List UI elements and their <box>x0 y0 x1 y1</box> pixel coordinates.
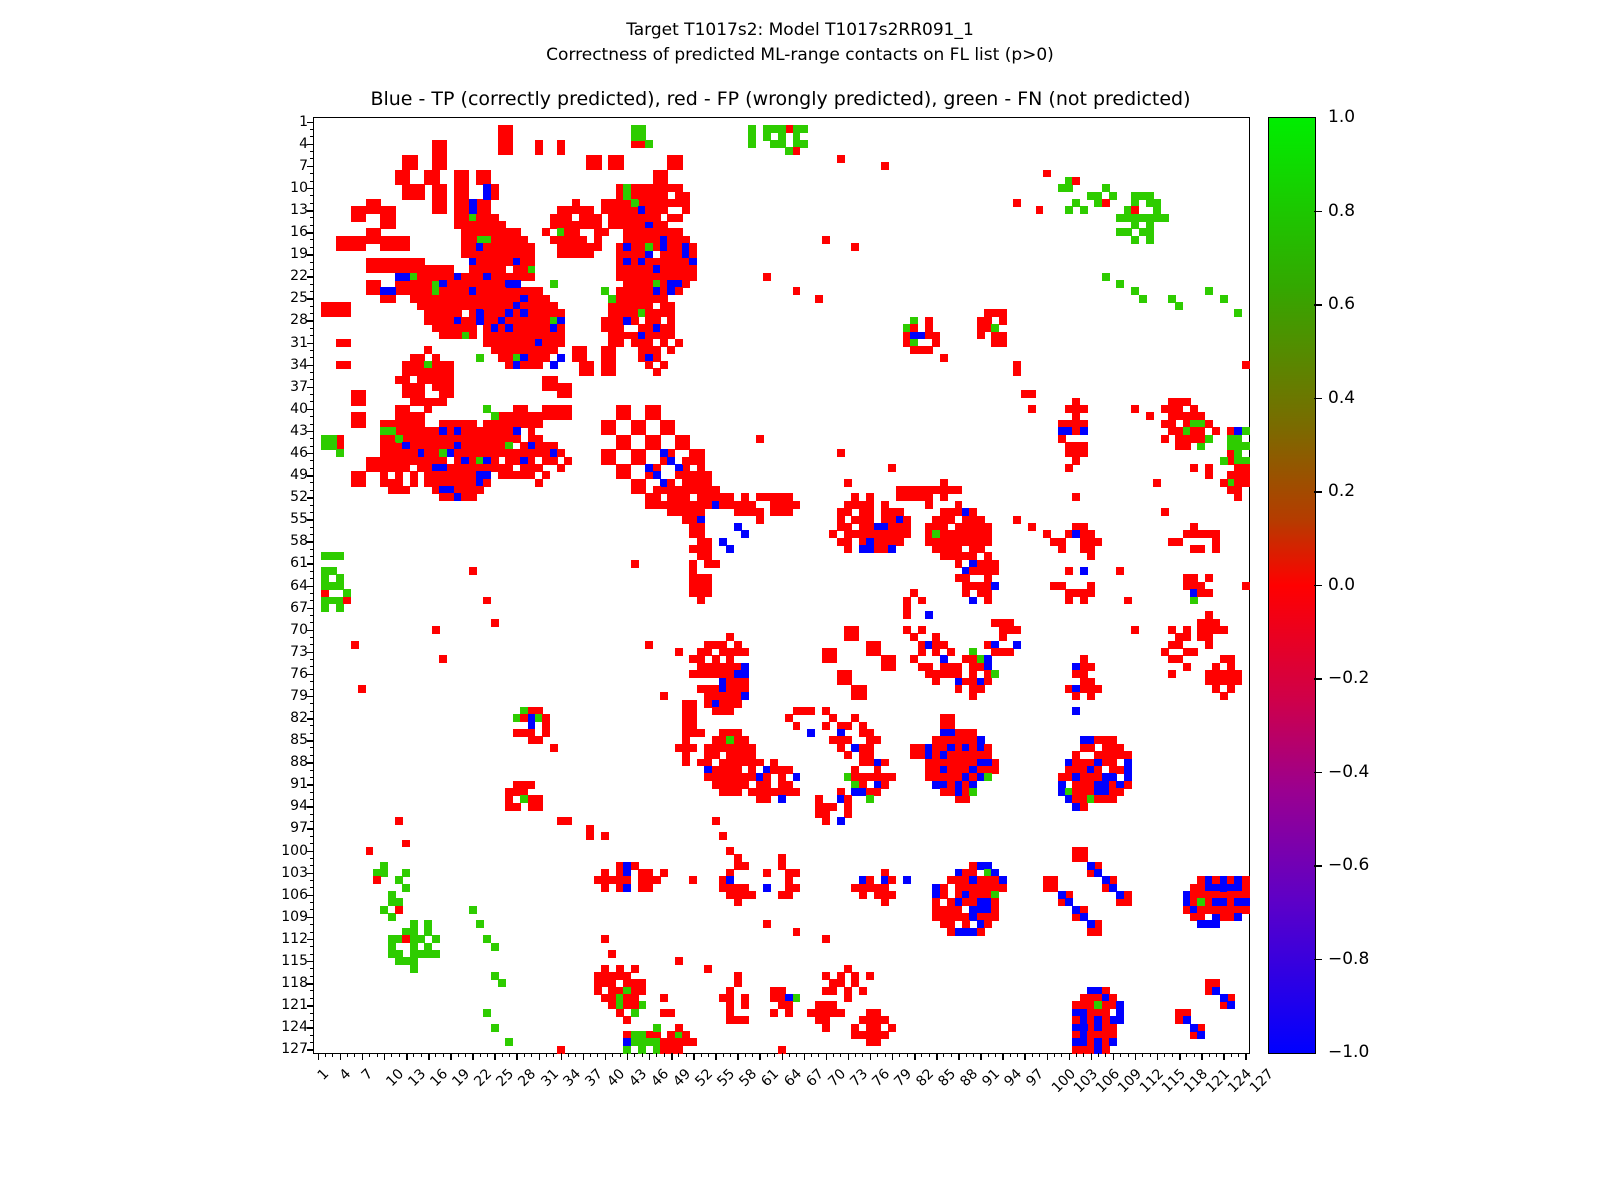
x-axis-tick-minor <box>907 1053 908 1057</box>
contact-cell-fp <box>432 626 440 634</box>
contact-cell-fp <box>896 493 904 501</box>
colorbar-tick <box>1314 865 1322 867</box>
contact-cell-fp <box>601 228 609 236</box>
contact-cell-fn <box>1102 273 1110 281</box>
contact-cell-fp <box>1065 597 1073 605</box>
y-axis-tick-major <box>307 320 314 322</box>
y-axis-tick-minor <box>310 438 314 439</box>
x-axis-tick-minor <box>1120 1053 1121 1057</box>
x-axis-tick-minor <box>1128 1053 1129 1057</box>
y-axis-tick-minor <box>310 379 314 380</box>
x-axis-tick-label: 40 <box>604 1066 628 1090</box>
contact-cell-fp <box>763 493 771 501</box>
contact-cell-fp <box>1183 663 1191 671</box>
contact-cell-fp <box>689 655 697 663</box>
x-axis-tick-label: 127 <box>1247 1066 1277 1096</box>
x-axis-tick-major <box>627 1053 629 1060</box>
y-axis-tick-minor <box>310 181 314 182</box>
y-axis-tick-minor <box>310 173 314 174</box>
contact-cell-fn <box>550 280 558 288</box>
contact-cell-fp <box>675 162 683 170</box>
x-axis-tick-major <box>1157 1053 1159 1060</box>
x-axis-tick-minor <box>377 1053 378 1057</box>
contact-cell-fp <box>1080 597 1088 605</box>
contact-cell-tp <box>726 545 734 553</box>
contact-cell-fp <box>793 788 801 796</box>
contact-cell-fp <box>712 560 720 568</box>
contact-cell-fn <box>608 295 616 303</box>
contact-cell-fp <box>888 773 896 781</box>
x-axis-tick-minor <box>723 1053 724 1057</box>
x-axis-tick-minor <box>1039 1053 1040 1057</box>
x-axis-tick-minor <box>811 1053 812 1057</box>
contact-cell-fp <box>1190 648 1198 656</box>
contact-cell-fn <box>1175 302 1183 310</box>
contact-cell-fp <box>542 729 550 737</box>
contact-map-axes[interactable]: 1144771010131316161919222225252828313134… <box>313 117 1250 1054</box>
x-axis-tick-minor <box>966 1053 967 1057</box>
y-axis-tick-major <box>307 983 314 985</box>
y-axis-tick-minor <box>310 747 314 748</box>
y-axis-tick-label: 22 <box>290 268 308 284</box>
x-axis-tick-label: 34 <box>560 1066 584 1090</box>
x-axis-tick-minor <box>509 1053 510 1057</box>
contact-cell-fp <box>601 994 609 1002</box>
contact-cell-fn <box>1205 435 1213 443</box>
contact-cell-fp <box>550 346 558 354</box>
contact-cell-fp <box>675 1024 683 1032</box>
contact-cell-fn <box>1146 228 1154 236</box>
contact-cell-fp <box>586 825 594 833</box>
contact-cell-fp <box>660 1009 668 1017</box>
contact-cell-fp <box>896 538 904 546</box>
contact-cell-fp <box>1190 545 1198 553</box>
y-axis-tick-minor <box>310 468 314 469</box>
contact-cell-fp <box>1205 471 1213 479</box>
contact-cell-fp <box>1094 928 1102 936</box>
y-axis-tick-minor <box>310 505 314 506</box>
contact-cell-fn <box>1065 206 1073 214</box>
contact-cell-tp <box>476 317 484 325</box>
contact-cell-fp <box>491 192 499 200</box>
y-axis-tick-minor <box>310 372 314 373</box>
x-axis-tick-major <box>561 1053 563 1060</box>
contact-cell-fp <box>528 273 536 281</box>
x-axis-tick-major <box>649 1053 651 1060</box>
y-axis-tick-minor <box>310 416 314 417</box>
x-axis-tick-minor <box>369 1053 370 1057</box>
x-axis-tick-label: 4 <box>336 1066 354 1084</box>
x-axis-tick-major <box>1047 1053 1049 1060</box>
y-axis-tick-minor <box>310 1013 314 1014</box>
contact-cell-fp <box>1220 626 1228 634</box>
y-axis-tick-minor <box>310 902 314 903</box>
contact-cell-fp <box>763 273 771 281</box>
contact-cell-fp <box>1131 626 1139 634</box>
x-axis-tick-label: 31 <box>538 1066 562 1090</box>
colorbar-tick-label: 0.2 <box>1328 481 1355 501</box>
x-axis-tick-label: 61 <box>759 1066 783 1090</box>
contact-cell-fp <box>918 597 926 605</box>
contact-cell-fp <box>866 744 874 752</box>
x-axis-tick-label: 19 <box>449 1066 473 1090</box>
colorbar-tick-label: −0.4 <box>1328 762 1369 782</box>
contact-cell-fn <box>748 140 756 148</box>
contact-cell-fp <box>550 744 558 752</box>
y-axis-tick-minor <box>310 711 314 712</box>
x-axis-tick-minor <box>1076 1053 1077 1057</box>
y-axis-tick-minor <box>310 571 314 572</box>
y-axis-tick-label: 127 <box>281 1041 308 1057</box>
contact-cell-tp <box>550 361 558 369</box>
y-axis-tick-label: 82 <box>290 710 308 726</box>
x-axis-tick-minor <box>546 1053 547 1057</box>
x-axis-tick-minor <box>796 1053 797 1057</box>
contact-cell-tp <box>1197 1031 1205 1039</box>
contact-cell-fp <box>1087 663 1095 671</box>
x-axis-tick-label: 55 <box>714 1066 738 1090</box>
y-axis-tick-minor <box>310 689 314 690</box>
contact-cell-fp <box>557 147 565 155</box>
contact-cell-fp <box>977 685 985 693</box>
y-axis-tick-label: 73 <box>290 644 308 660</box>
y-axis-tick-major <box>307 188 314 190</box>
contact-cell-tp <box>837 817 845 825</box>
y-axis-tick-minor <box>310 887 314 888</box>
contact-cell-fp <box>1161 435 1169 443</box>
y-axis-tick-minor <box>310 490 314 491</box>
x-axis-tick-minor <box>774 1053 775 1057</box>
y-axis-tick-label: 70 <box>290 622 308 638</box>
x-axis-tick-minor <box>951 1053 952 1057</box>
y-axis-tick-minor <box>310 225 314 226</box>
contact-cell-fp <box>528 258 536 266</box>
contact-cell-fp <box>844 751 852 759</box>
x-axis-tick-minor <box>391 1053 392 1057</box>
contact-cell-tp <box>1212 920 1220 928</box>
x-axis-tick-minor <box>1172 1053 1173 1057</box>
contact-cell-fp <box>1116 788 1124 796</box>
contact-cell-fp <box>697 597 705 605</box>
y-axis-tick-label: 61 <box>290 555 308 571</box>
x-axis-tick-major <box>759 1053 761 1060</box>
contact-cell-fp <box>719 707 727 715</box>
x-axis-tick-minor <box>487 1053 488 1057</box>
contact-cell-fp <box>1190 405 1198 413</box>
y-axis-tick-minor <box>310 1035 314 1036</box>
contact-cell-fp <box>999 884 1007 892</box>
contact-cell-tp <box>388 287 396 295</box>
x-axis-tick-label: 85 <box>935 1066 959 1090</box>
contact-cell-fn <box>793 994 801 1002</box>
contact-cell-fn <box>380 869 388 877</box>
contact-cell-fn <box>1205 287 1213 295</box>
y-axis-tick-minor <box>310 666 314 667</box>
x-axis-tick-major <box>715 1053 717 1060</box>
y-axis-tick-label: 10 <box>290 180 308 196</box>
contact-cell-fp <box>1116 567 1124 575</box>
x-axis-tick-minor <box>1209 1053 1210 1057</box>
colorbar-tick-label: 0.0 <box>1328 575 1355 595</box>
y-axis-tick-major <box>307 740 314 742</box>
y-axis-tick-label: 76 <box>290 666 308 682</box>
contact-cell-fp <box>660 869 668 877</box>
contact-cell-fn <box>1234 309 1242 317</box>
contact-cell-fp <box>888 663 896 671</box>
y-axis-tick-major <box>307 873 314 875</box>
y-axis-tick-minor <box>310 593 314 594</box>
x-axis-tick-major <box>318 1053 320 1060</box>
contact-cell-fp <box>491 619 499 627</box>
contact-cell-fn <box>866 795 874 803</box>
y-axis-tick-minor <box>310 932 314 933</box>
contact-cell-fp <box>793 147 801 155</box>
contact-cell-tp <box>991 582 999 590</box>
contact-cell-fp <box>505 147 513 155</box>
contact-cell-fp <box>881 1031 889 1039</box>
contact-cell-fp <box>851 633 859 641</box>
contact-cell-fp <box>1234 493 1242 501</box>
contact-cell-fp <box>447 390 455 398</box>
y-axis-tick-label: 46 <box>290 445 308 461</box>
y-axis-tick-minor <box>310 284 314 285</box>
contact-cell-fn <box>424 950 432 958</box>
x-axis-tick-minor <box>1054 1053 1055 1057</box>
title-line-2: Correctness of predicted ML-range contac… <box>0 43 1600 68</box>
x-axis-tick-label: 52 <box>692 1066 716 1090</box>
x-axis-tick-minor <box>877 1053 878 1057</box>
contact-cell-fn <box>329 567 337 575</box>
contact-cell-fp <box>741 862 749 870</box>
contact-cell-fp <box>469 332 477 340</box>
y-axis-tick-minor <box>310 998 314 999</box>
contact-cell-fp <box>1242 582 1250 590</box>
y-axis-tick-major <box>307 431 314 433</box>
contact-cell-fp <box>1043 170 1051 178</box>
x-axis-tick-label: 58 <box>737 1066 761 1090</box>
contact-cell-fp <box>1168 670 1176 678</box>
contact-cell-fp <box>439 398 447 406</box>
contact-cell-fp <box>888 891 896 899</box>
y-axis-tick-major <box>307 696 314 698</box>
x-axis-tick-minor <box>480 1053 481 1057</box>
contact-cell-fp <box>645 641 653 649</box>
contact-cell-fn <box>1139 295 1147 303</box>
contact-cell-fp <box>528 781 536 789</box>
y-axis-tick-label: 4 <box>299 136 308 152</box>
contact-cell-fp <box>689 1038 697 1046</box>
contact-cell-fp <box>660 361 668 369</box>
contact-cell-fp <box>991 567 999 575</box>
colorbar-tick <box>1314 772 1322 774</box>
contact-cell-fp <box>586 832 594 840</box>
contact-cell-fp <box>763 920 771 928</box>
contact-cell-fp <box>410 479 418 487</box>
y-axis-tick-major <box>307 851 314 853</box>
contact-cell-fp <box>601 884 609 892</box>
colorbar-tick-label: −0.8 <box>1328 949 1369 969</box>
contact-cell-fp <box>1013 199 1021 207</box>
x-axis-tick-minor <box>1017 1053 1018 1057</box>
contact-cell-fp <box>984 678 992 686</box>
contact-cell-fp <box>844 994 852 1002</box>
contact-cell-tp <box>778 795 786 803</box>
contact-cell-fp <box>881 781 889 789</box>
contact-cell-fp <box>999 633 1007 641</box>
x-axis-tick-minor <box>840 1053 841 1057</box>
contact-cell-fp <box>675 214 683 222</box>
x-axis-tick-minor <box>862 1053 863 1057</box>
figure-title: Target T1017s2: Model T1017s2RR091_1 Cor… <box>0 18 1600 68</box>
contact-cell-fp <box>859 987 867 995</box>
contact-cell-fp <box>1197 435 1205 443</box>
x-axis-tick-major <box>340 1053 342 1060</box>
contact-cell-fp <box>940 354 948 362</box>
x-axis-tick-label: 70 <box>825 1066 849 1090</box>
colorbar-tick <box>1314 678 1322 680</box>
contact-cell-fp <box>358 214 366 222</box>
x-axis-tick-minor <box>399 1053 400 1057</box>
contact-cell-fp <box>756 516 764 524</box>
contact-cell-fp <box>653 876 661 884</box>
contact-cell-fp <box>513 803 521 811</box>
x-axis-tick-minor <box>1142 1053 1143 1057</box>
y-axis-tick-minor <box>310 328 314 329</box>
contact-cell-fp <box>1087 589 1095 597</box>
y-axis-tick-label: 13 <box>290 202 308 218</box>
contact-cell-tp <box>925 611 933 619</box>
contact-cell-fp <box>807 707 815 715</box>
y-axis-tick-minor <box>310 644 314 645</box>
colorbar-tick <box>1314 959 1322 961</box>
contact-cell-fp <box>1109 795 1117 803</box>
contact-cell-fp <box>1161 420 1169 428</box>
contact-cell-fp <box>483 479 491 487</box>
contact-cell-fp <box>1220 692 1228 700</box>
contact-cell-fp <box>564 817 572 825</box>
contact-cell-fp <box>689 273 697 281</box>
y-axis-tick-minor <box>310 843 314 844</box>
x-axis-tick-minor <box>1231 1053 1232 1057</box>
contact-cell-fp <box>1205 589 1213 597</box>
x-axis-tick-minor <box>421 1053 422 1057</box>
contact-cell-fp <box>1242 479 1250 487</box>
y-axis-tick-minor <box>310 357 314 358</box>
contact-cell-fp <box>903 611 911 619</box>
contact-cell-fn <box>631 1009 639 1017</box>
contact-cell-fp <box>793 722 801 730</box>
x-axis-tick-major <box>1179 1053 1181 1060</box>
y-axis-tick-minor <box>310 946 314 947</box>
contact-cell-fp <box>1212 545 1220 553</box>
x-axis-tick-label: 76 <box>869 1066 893 1090</box>
contact-cell-fp <box>689 700 697 708</box>
title-line-1: Target T1017s2: Model T1017s2RR091_1 <box>0 18 1600 43</box>
contact-cell-fn <box>476 920 484 928</box>
contact-cell-fp <box>1013 626 1021 634</box>
y-axis-tick-minor <box>310 556 314 557</box>
contact-cell-fp <box>1065 464 1073 472</box>
contact-cell-fp <box>417 464 425 472</box>
contact-cell-tp <box>793 773 801 781</box>
y-axis-tick-label: 85 <box>290 732 308 748</box>
contact-cell-fp <box>343 597 351 605</box>
y-axis-tick-minor <box>310 725 314 726</box>
contact-cell-fp <box>977 332 985 340</box>
x-axis-tick-minor <box>1150 1053 1151 1057</box>
x-axis-tick-minor <box>885 1053 886 1057</box>
contact-cell-fp <box>999 339 1007 347</box>
contact-cell-fn <box>645 1038 653 1046</box>
y-axis-tick-major <box>307 608 314 610</box>
contact-cell-fp <box>1006 648 1014 656</box>
contact-cell-fp <box>940 670 948 678</box>
x-axis-tick-major <box>539 1053 541 1060</box>
contact-cell-fp <box>1242 361 1250 369</box>
contact-cell-fp <box>483 597 491 605</box>
contact-cell-fp <box>712 817 720 825</box>
contact-cell-fp <box>645 339 653 347</box>
contact-cell-fp <box>439 206 447 214</box>
x-axis-tick-label: 10 <box>383 1066 407 1090</box>
x-axis-tick-major <box>1002 1053 1004 1060</box>
x-axis-tick-minor <box>1083 1053 1084 1057</box>
contact-cell-fp <box>1087 552 1095 560</box>
contact-cell-fp <box>1212 427 1220 435</box>
contact-cell-fp <box>1146 412 1154 420</box>
contact-cell-fn <box>491 943 499 951</box>
x-axis-tick-minor <box>642 1053 643 1057</box>
contact-cell-fp <box>851 493 859 501</box>
contact-cell-fn <box>1220 295 1228 303</box>
y-axis-tick-minor <box>310 195 314 196</box>
x-axis-tick-major <box>1024 1053 1026 1060</box>
contact-cell-fp <box>1124 781 1132 789</box>
contact-cell-fp <box>910 633 918 641</box>
contact-cell-fp <box>785 1009 793 1017</box>
x-axis-tick-minor <box>435 1053 436 1057</box>
y-axis-tick-label: 37 <box>290 379 308 395</box>
contact-cell-fp <box>675 957 683 965</box>
contact-cell-fn <box>1065 184 1073 192</box>
contact-cell-tp <box>807 729 815 737</box>
contact-cell-fp <box>623 979 631 987</box>
contact-cell-fp <box>469 567 477 575</box>
contact-cell-fp <box>660 692 668 700</box>
contact-cell-fp <box>697 508 705 516</box>
colorbar-tick-label: −0.2 <box>1328 668 1369 688</box>
contact-cell-fp <box>535 147 543 155</box>
contact-cell-fp <box>726 847 734 855</box>
colorbar-tick-label: 0.8 <box>1328 201 1355 221</box>
x-axis-tick-label: 64 <box>781 1066 805 1090</box>
y-axis-tick-minor <box>310 770 314 771</box>
contact-cell-fp <box>476 486 484 494</box>
x-axis-tick-major <box>826 1053 828 1060</box>
contact-cell-fp <box>1205 464 1213 472</box>
contact-cell-fp <box>660 221 668 229</box>
contact-cell-fp <box>535 479 543 487</box>
colorbar-tick-label: −1.0 <box>1328 1042 1369 1062</box>
y-axis-tick-major <box>307 762 314 764</box>
contact-cell-fp <box>822 817 830 825</box>
contact-cell-fp <box>851 243 859 251</box>
contact-cell-fp <box>689 567 697 575</box>
x-axis-tick-label: 43 <box>626 1066 650 1090</box>
contact-cell-tp <box>1234 913 1242 921</box>
contact-cell-fp <box>829 987 837 995</box>
contact-cell-fp <box>601 832 609 840</box>
